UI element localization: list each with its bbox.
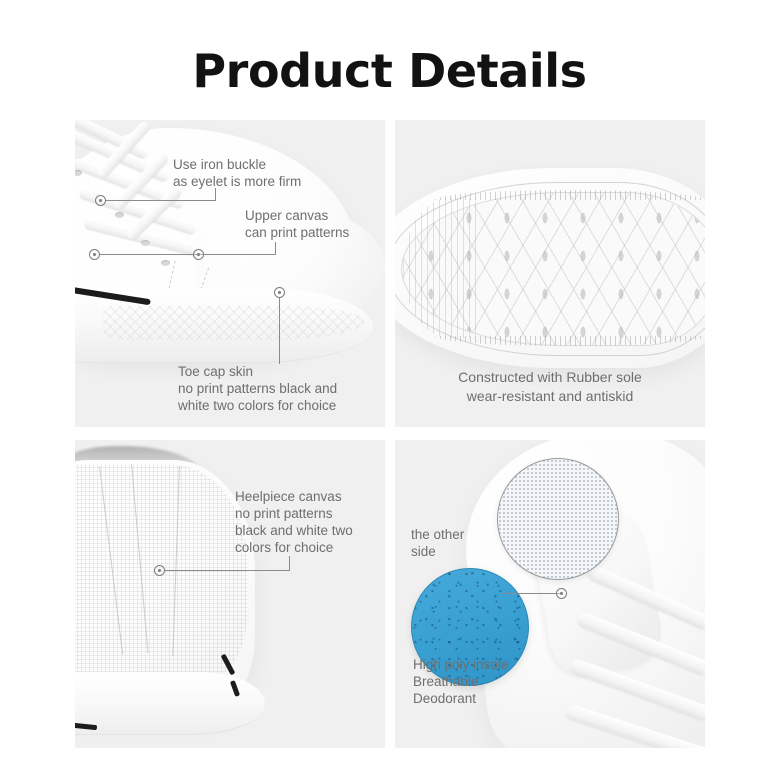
- panel-rubber-outsole: Constructed with Rubber sole wear-resist…: [395, 120, 705, 427]
- sole-texture: [103, 306, 365, 340]
- panel-sneaker-toe: Use iron buckle as eyelet is more firm U…: [75, 120, 385, 427]
- marker-insole: [556, 588, 567, 599]
- heel-rubber-sole: [75, 672, 265, 735]
- leader-heelpiece-h: [165, 570, 289, 571]
- leader-upper-canvas-v: [275, 242, 276, 255]
- heelpiece-image: [75, 440, 385, 748]
- eyelet-3: [141, 240, 150, 246]
- panel-heelpiece: Heelpiece canvas no print patterns black…: [75, 440, 385, 748]
- leader-upper-canvas-h: [99, 254, 275, 255]
- marker-heelpiece: [154, 565, 165, 576]
- leader-insole-h: [501, 593, 561, 594]
- panel-insole: the other side High poly insole Breathab…: [395, 440, 705, 748]
- leader-iron-buckle-v: [215, 188, 216, 201]
- caption-rubber-sole: Constructed with Rubber sole wear-resist…: [395, 368, 705, 406]
- marker-upper-canvas-left: [89, 249, 100, 260]
- marker-iron-buckle: [95, 195, 106, 206]
- annotation-other-side: the other side: [411, 526, 464, 560]
- annotation-upper-canvas: Upper canvas can print patterns: [245, 207, 349, 241]
- leader-iron-buckle-h: [105, 200, 215, 201]
- eyelet-2: [115, 212, 124, 218]
- marker-toe-cap: [274, 287, 285, 298]
- page-title: Product Details: [0, 44, 779, 98]
- eyelet-4: [161, 260, 170, 266]
- leader-toe-cap-v: [279, 298, 280, 364]
- product-details-page: Product Details: [0, 0, 779, 779]
- leader-heelpiece-v: [289, 556, 290, 571]
- marker-upper-canvas-right: [193, 249, 204, 260]
- swatch-mesh-insole-top: [497, 458, 619, 580]
- annotation-heelpiece-canvas: Heelpiece canvas no print patterns black…: [235, 488, 353, 556]
- annotation-iron-buckle: Use iron buckle as eyelet is more firm: [173, 156, 301, 190]
- annotation-toe-cap: Toe cap skin no print patterns black and…: [178, 363, 337, 414]
- annotation-high-poly-insole: High poly insole Breathable Deodorant: [413, 656, 508, 707]
